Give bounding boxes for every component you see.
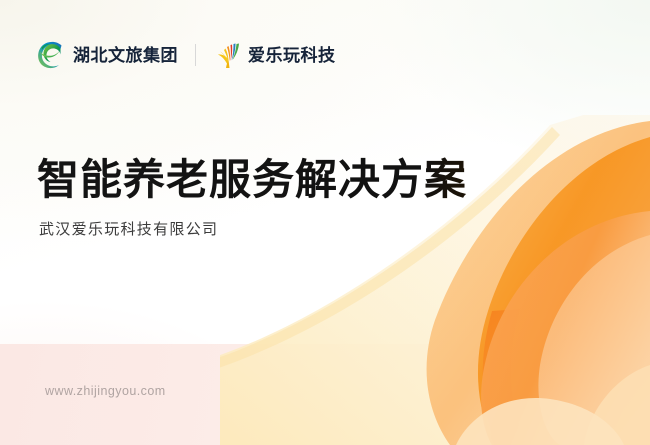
logo-label-ailewan: 爱乐玩科技: [248, 47, 336, 64]
logo-label-hubei: 湖北文旅集团: [73, 47, 178, 64]
page-title: 智能养老服务解决方案: [37, 156, 597, 204]
footer-website-url: www.zhijingyou.com: [45, 384, 166, 398]
ailewan-rainbow-feather-icon: [213, 41, 243, 69]
headline-block: 智能养老服务解决方案 武汉爱乐玩科技有限公司: [37, 156, 597, 239]
logo-divider: [195, 44, 196, 66]
page-subtitle: 武汉爱乐玩科技有限公司: [39, 218, 597, 239]
logo-hubei-culture-tourism: 湖北文旅集团: [36, 40, 178, 70]
logo-bar: 湖北文旅集团 爱乐玩科技: [36, 38, 336, 72]
title-slide: 湖北文旅集团 爱乐玩科技 智能养老服务解决方案 武汉爱乐玩科技有限公司 www.…: [0, 0, 650, 445]
logo-ailewan-tech: 爱乐玩科技: [213, 41, 336, 69]
hubei-culture-tourism-circle-swoosh-icon: [36, 40, 66, 70]
